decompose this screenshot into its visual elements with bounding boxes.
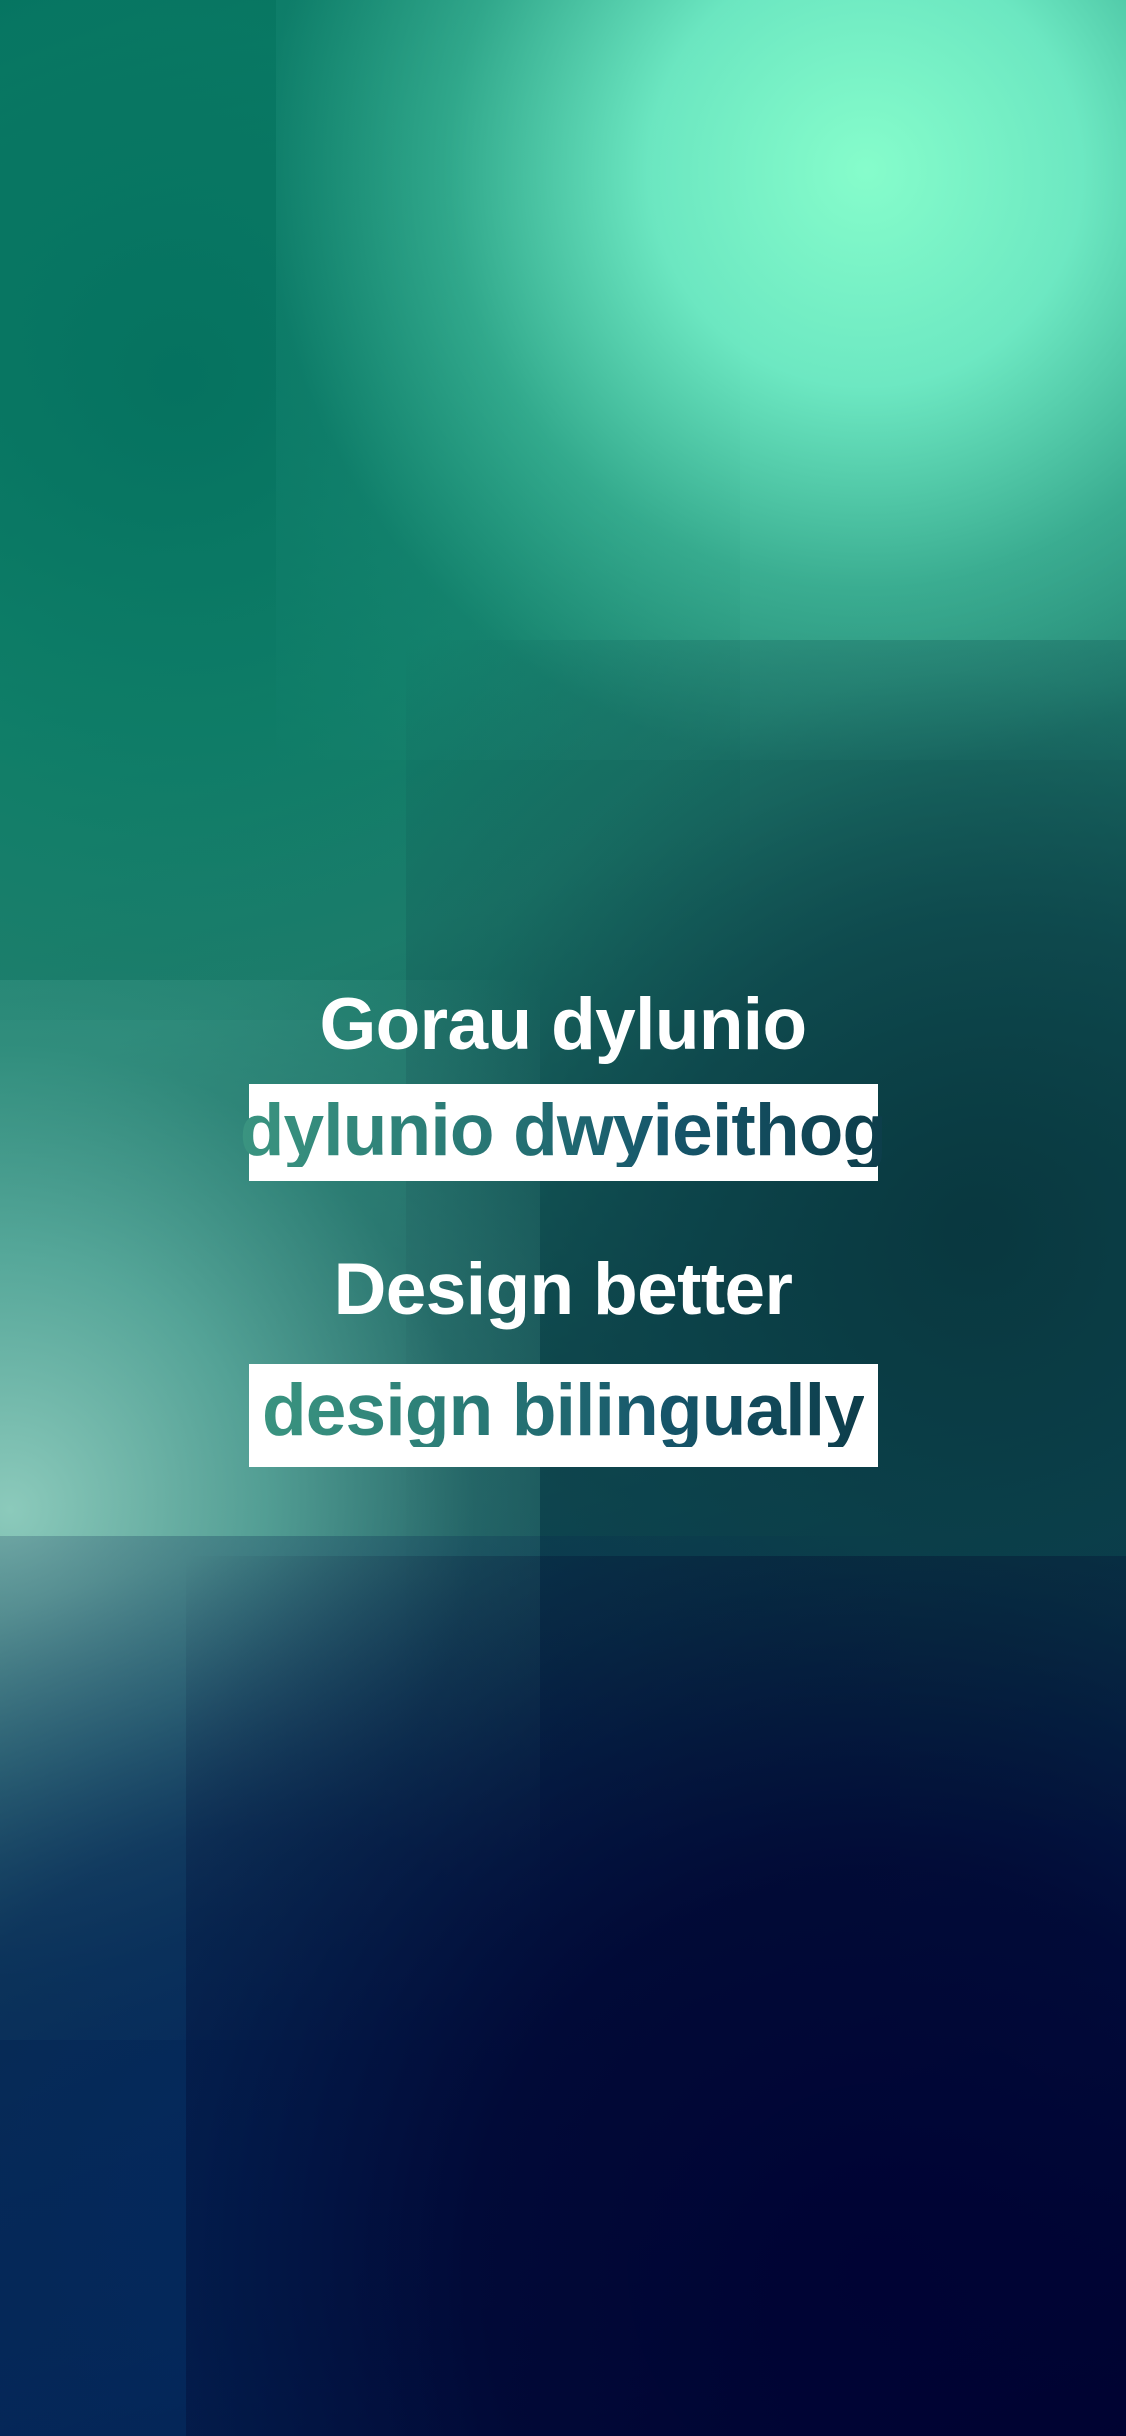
tagline-welsh-line-2: dylunio dwyieithog — [240, 1094, 887, 1167]
tagline-group-welsh: Gorau dylunio dylunio dwyieithog — [249, 988, 878, 1181]
splash-screen: Gorau dylunio dylunio dwyieithog Design … — [0, 0, 1126, 2436]
tagline-welsh-line-1: Gorau dylunio — [320, 988, 807, 1061]
tagline-welsh-line-2-box: dylunio dwyieithog — [249, 1084, 878, 1181]
tagline-english-line-2: design bilingually — [262, 1374, 864, 1447]
tagline-english-line-1: Design better — [334, 1253, 793, 1326]
tagline-english-line-2-box: design bilingually — [249, 1364, 878, 1467]
tagline-stack: Gorau dylunio dylunio dwyieithog Design … — [0, 988, 1126, 1467]
tagline-group-english: Design better design bilingually — [249, 1253, 878, 1467]
